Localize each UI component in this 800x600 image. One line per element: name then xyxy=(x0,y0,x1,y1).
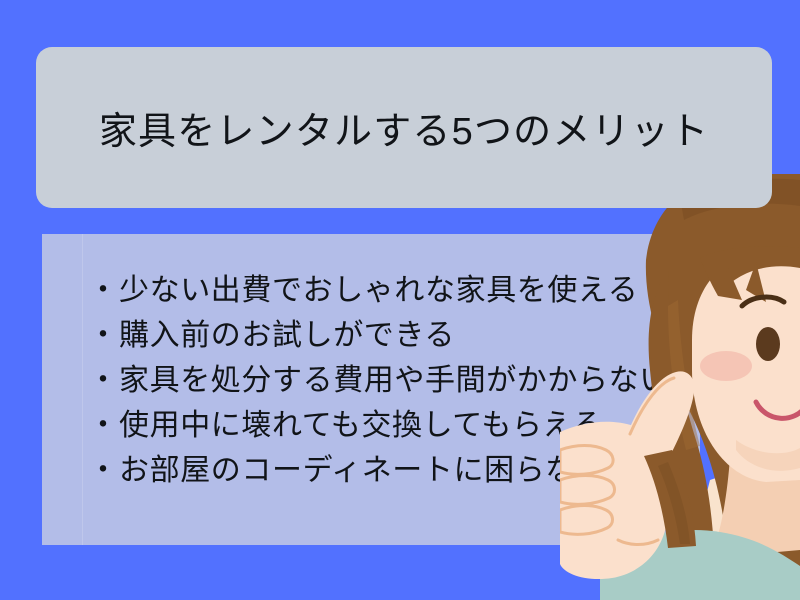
bullet-marker-icon: ・ xyxy=(88,358,118,403)
woman-thumbs-up-graphic xyxy=(560,150,800,600)
woman-illustration xyxy=(560,150,800,600)
title-card: 家具をレンタルする5つのメリット xyxy=(36,47,772,208)
bullet-text: 使用中に壊れても交換してもらえる xyxy=(119,403,603,448)
bullet-text: 購入前のお試しができる xyxy=(119,313,455,358)
slide-canvas: ・ 少ない出費でおしゃれな家具を使える ・ 購入前のお試しができる ・ 家具を処… xyxy=(0,0,800,600)
bullet-marker-icon: ・ xyxy=(88,313,118,358)
bullet-marker-icon: ・ xyxy=(88,448,118,493)
page-title: 家具をレンタルする5つのメリット xyxy=(99,100,709,155)
bullet-text: お部屋のコーディネートに困らない xyxy=(119,448,607,493)
bullet-marker-icon: ・ xyxy=(88,403,118,448)
panel-seam-line xyxy=(82,234,83,545)
bullet-marker-icon: ・ xyxy=(88,268,118,313)
